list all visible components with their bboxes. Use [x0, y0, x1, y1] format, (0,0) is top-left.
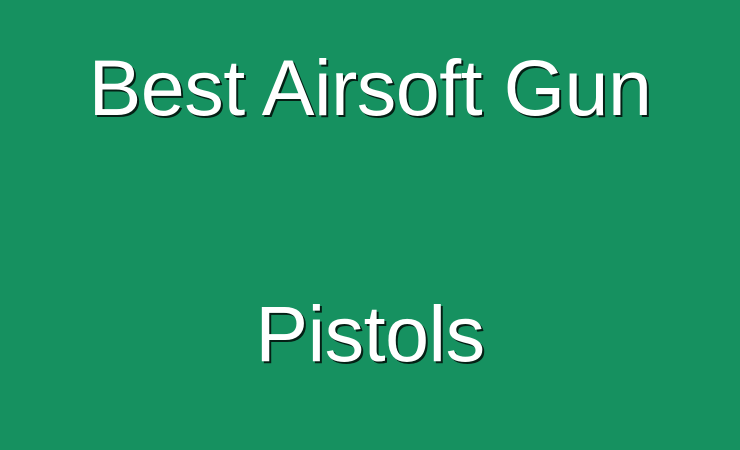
page-title-line-1: Best Airsoft Gun	[40, 47, 700, 129]
page-title: Best Airsoft Gun Pistols	[0, 0, 740, 450]
page-title-line-2: Pistols	[40, 293, 700, 375]
title-banner: Best Airsoft Gun Pistols	[0, 0, 740, 450]
